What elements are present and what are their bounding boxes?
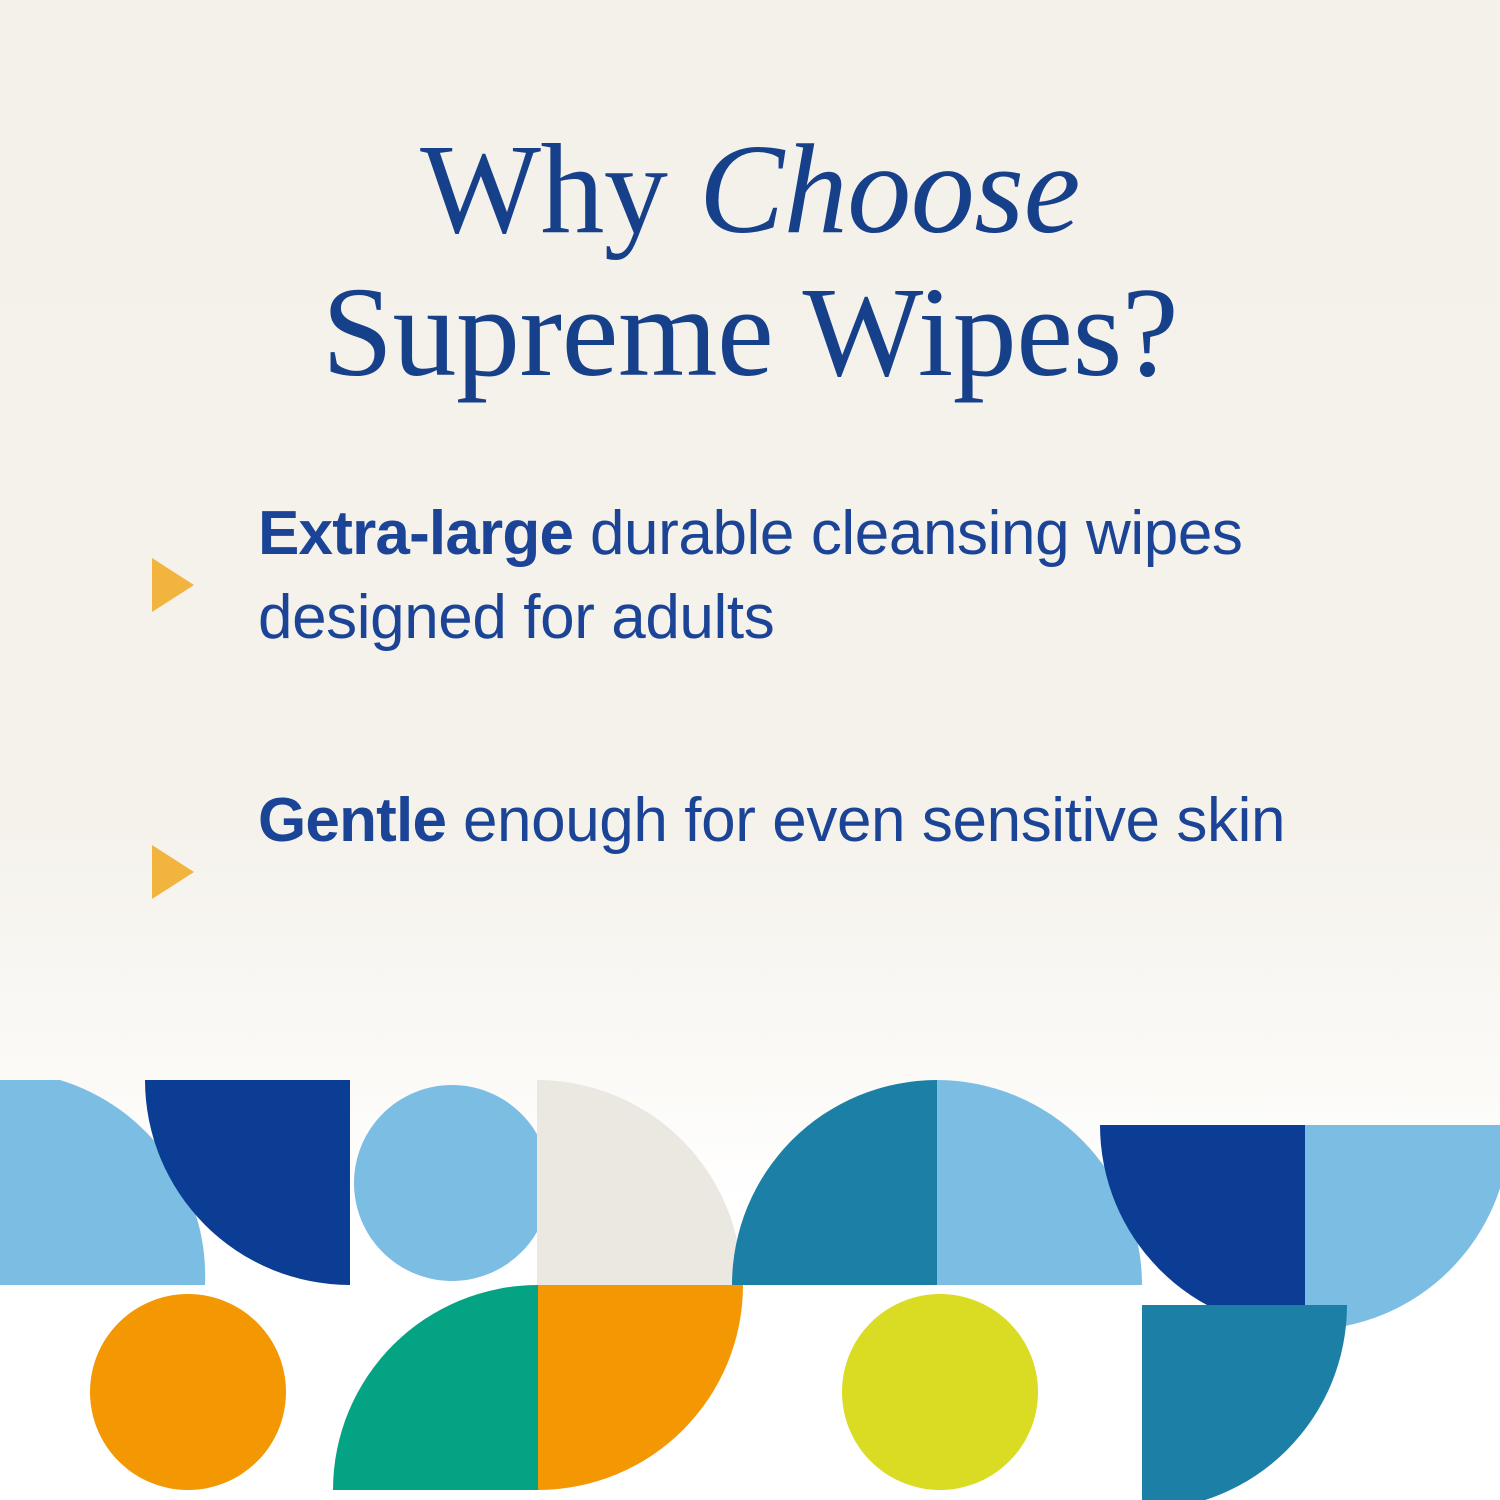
shape-lightblue-quarter-right [1305, 1125, 1500, 1330]
triangle-right-icon [150, 556, 196, 614]
geometric-shape-band [0, 1080, 1500, 1500]
marketing-graphic-canvas: Why Choose Supreme Wipes? Extra-large du… [0, 0, 1500, 1500]
benefits-list: Extra-large durable cleansing wipes desi… [150, 492, 1410, 1019]
shape-lightblue-circle-1 [354, 1085, 550, 1281]
shape-orange-circle [90, 1294, 286, 1490]
headline-line-1: Why Choose [0, 118, 1500, 261]
list-item: Extra-large durable cleansing wipes desi… [150, 492, 1410, 661]
list-item-text: Gentle enough for even sensitive skin [258, 779, 1378, 863]
shape-lime-circle [842, 1294, 1038, 1490]
shape-teal-quarter-top [732, 1080, 937, 1285]
shape-orange-quarter [538, 1285, 743, 1490]
list-item-emphasis: Extra-large [258, 499, 573, 568]
list-item-body: enough for even sensitive skin [446, 786, 1285, 855]
shape-teal-quarter-bottom [1142, 1305, 1347, 1500]
headline-line-2: Supreme Wipes? [0, 261, 1500, 404]
shape-beige-quarter [537, 1080, 742, 1285]
page-title: Why Choose Supreme Wipes? [0, 118, 1500, 405]
headline-why: Why [420, 118, 699, 260]
shape-navy-quarter-2 [1100, 1125, 1305, 1330]
shape-green-quarter [333, 1285, 538, 1490]
headline-choose: Choose [699, 118, 1080, 260]
list-item-emphasis: Gentle [258, 786, 446, 855]
list-item-text: Extra-large durable cleansing wipes desi… [258, 492, 1378, 661]
list-item: Gentle enough for even sensitive skin [150, 779, 1410, 901]
triangle-right-icon [150, 843, 196, 901]
